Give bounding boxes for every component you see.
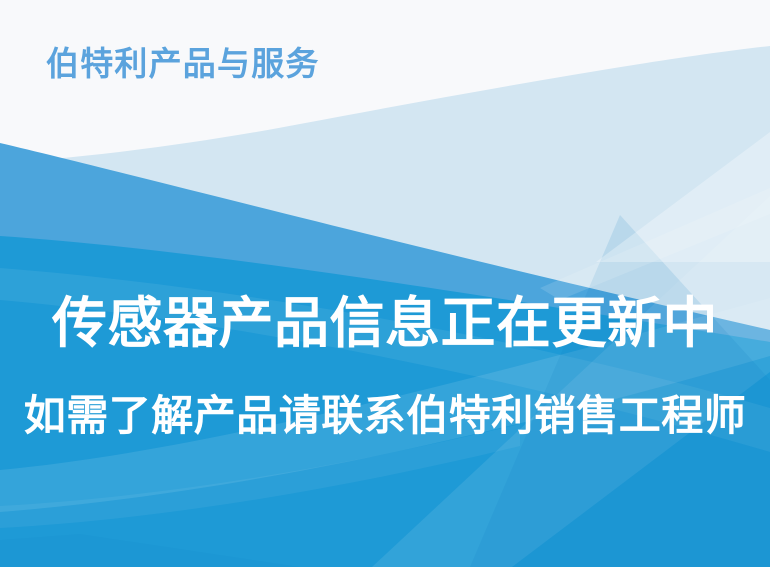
decorative-background-art: [0, 0, 770, 567]
product-placeholder-banner: 伯特利产品与服务 传感器产品信息正在更新中 如需了解产品请联系伯特利销售工程师: [0, 0, 770, 567]
message-block: 传感器产品信息正在更新中 如需了解产品请联系伯特利销售工程师: [0, 290, 770, 442]
page-title: 伯特利产品与服务: [46, 44, 320, 84]
headline-secondary: 如需了解产品请联系伯特利销售工程师: [0, 390, 770, 442]
headline-primary: 传感器产品信息正在更新中: [0, 290, 770, 356]
